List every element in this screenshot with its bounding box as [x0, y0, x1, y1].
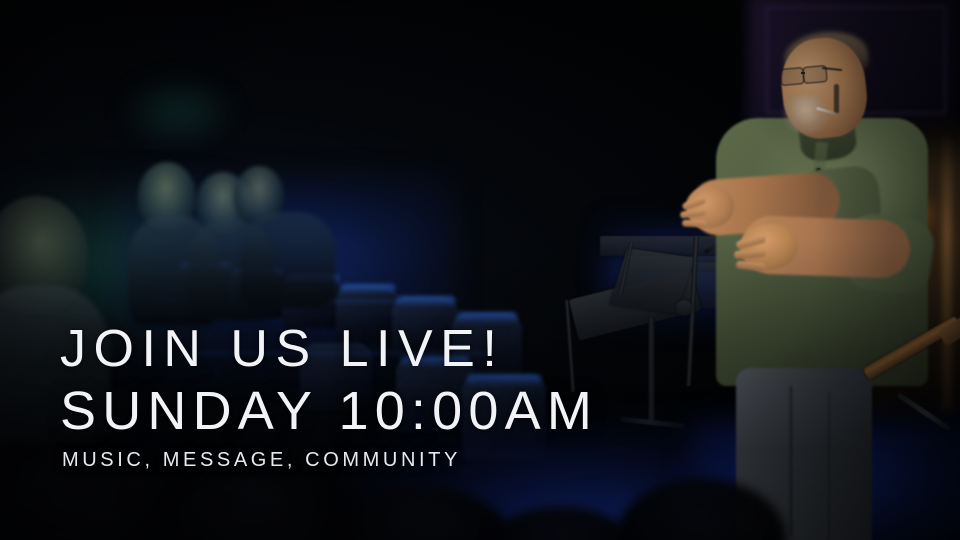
- headset-microphone-band: [834, 84, 839, 114]
- headline-service-time: SUNDAY 10:00AM: [60, 380, 800, 442]
- eyeglasses-bridge: [801, 72, 805, 74]
- finger: [682, 220, 706, 228]
- warm-wall-strip: [942, 130, 952, 410]
- eyeglasses-left-lens: [779, 67, 804, 86]
- jeans-seam: [828, 392, 830, 540]
- microphone-clutch: [676, 300, 692, 316]
- seat-rim-light: [340, 284, 396, 294]
- seat-rim-light: [396, 296, 456, 307]
- speaker-beard: [784, 96, 828, 134]
- teal-light-wash-upper: [118, 76, 238, 146]
- promo-graphic: JOIN US LIVE! SUNDAY 10:00AM MUSIC, MESS…: [0, 0, 960, 540]
- headline-primary: JOIN US LIVE!: [60, 318, 800, 380]
- subheadline-tagline: MUSIC, MESSAGE, COMMUNITY: [62, 448, 800, 472]
- promo-text-block: JOIN US LIVE! SUNDAY 10:00AM MUSIC, MESS…: [60, 318, 800, 472]
- audience-member-body: [240, 212, 336, 308]
